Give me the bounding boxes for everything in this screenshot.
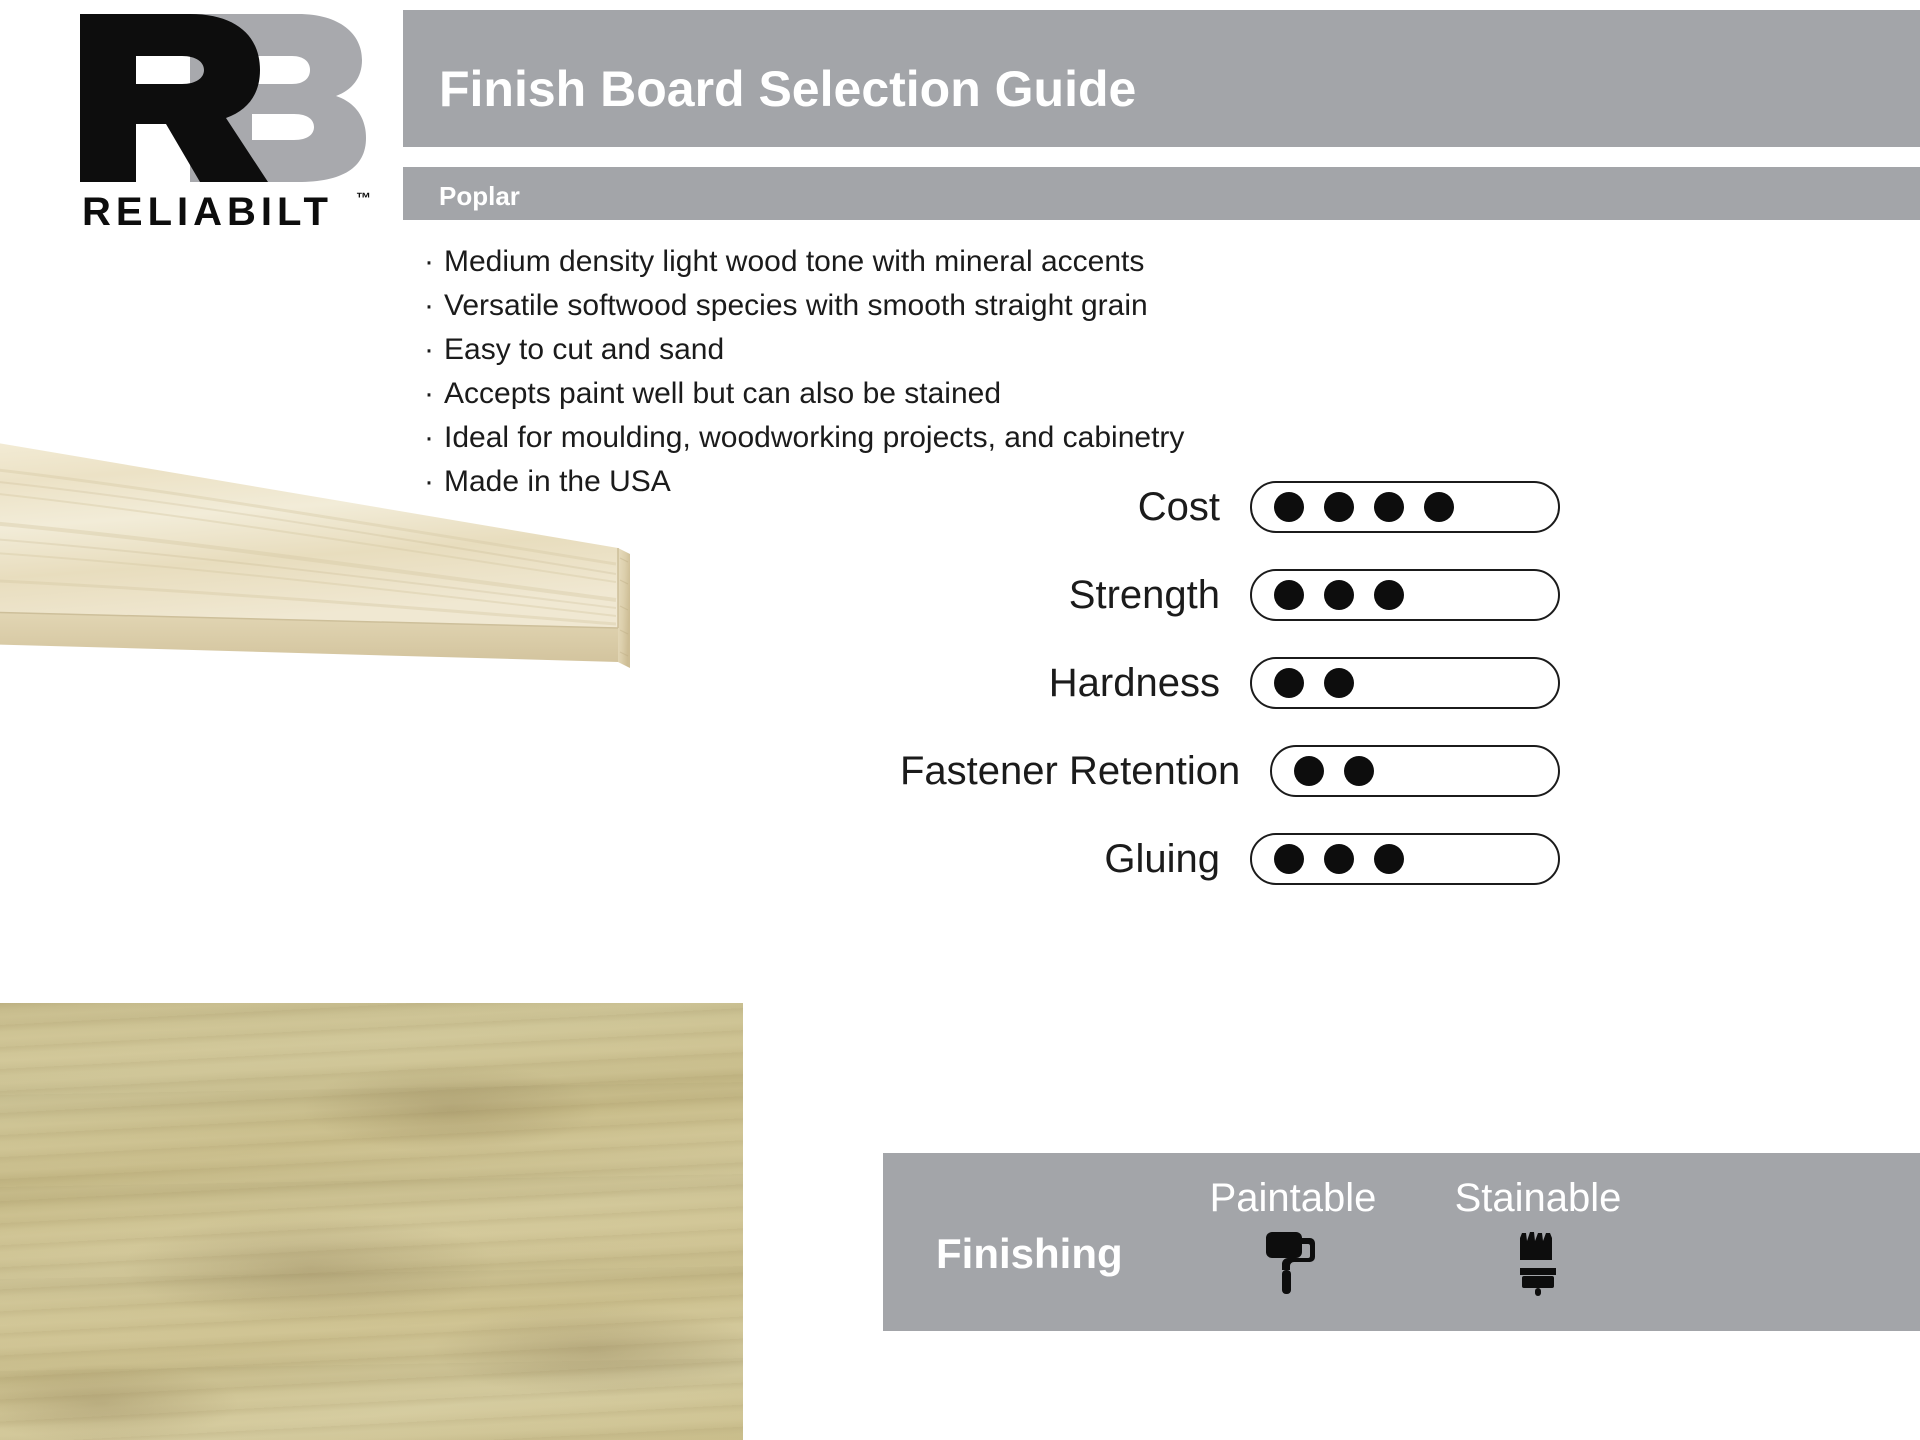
rating-label: Hardness: [1049, 661, 1220, 706]
bullet-icon: ·: [424, 240, 444, 284]
rating-row-hardness: Hardness: [900, 646, 1560, 720]
bullet-icon: ·: [424, 372, 444, 416]
rating-dot: [1374, 492, 1404, 522]
feature-text: Medium density light wood tone with mine…: [444, 240, 1144, 284]
bullet-icon: ·: [424, 328, 444, 372]
feature-text: Easy to cut and sand: [444, 328, 724, 372]
rating-dot: [1324, 844, 1354, 874]
finishing-option-paintable: Paintable: [1168, 1176, 1418, 1299]
rating-dot: [1274, 580, 1304, 610]
brand-logo: RELIABILT ™: [40, 8, 370, 238]
page-title: Finish Board Selection Guide: [439, 60, 1136, 118]
trademark-symbol: ™: [356, 190, 371, 207]
rating-dot: [1294, 756, 1324, 786]
rb-monogram-icon: [40, 8, 370, 188]
list-item: · Accepts paint well but can also be sta…: [424, 372, 1384, 416]
grain-figure: [300, 1063, 600, 1153]
paint-roller-glyph: [1262, 1230, 1324, 1296]
rating-meter: [1250, 657, 1560, 709]
species-name: Poplar: [439, 181, 520, 212]
rating-dot: [1274, 492, 1304, 522]
rating-row-gluing: Gluing: [900, 822, 1560, 896]
rating-meter: [1250, 833, 1560, 885]
wood-grain-swatch: [0, 1003, 743, 1440]
rating-dot: [1324, 492, 1354, 522]
rating-dot: [1374, 580, 1404, 610]
bullet-icon: ·: [424, 284, 444, 328]
brand-wordmark: RELIABILT: [82, 190, 333, 235]
paint-roller-icon: [1168, 1227, 1418, 1299]
list-item: · Easy to cut and sand: [424, 328, 1384, 372]
logo-letter-r: [80, 14, 268, 182]
feature-text: Accepts paint well but can also be stain…: [444, 372, 1001, 416]
rating-label: Strength: [1069, 573, 1220, 618]
paint-brush-icon: [1413, 1227, 1663, 1299]
finishing-heading: Finishing: [936, 1230, 1123, 1278]
property-ratings: Cost Strength Hardness Fastener Retentio…: [900, 470, 1560, 910]
list-item: · Medium density light wood tone with mi…: [424, 240, 1384, 284]
species-bar: Poplar: [403, 167, 1920, 220]
rating-row-strength: Strength: [900, 558, 1560, 632]
grain-figure: [120, 1213, 500, 1323]
rating-meter: [1250, 569, 1560, 621]
rating-dot: [1424, 492, 1454, 522]
rating-meter: [1270, 745, 1560, 797]
rating-label: Cost: [1138, 485, 1220, 530]
feature-text: Versatile softwood species with smooth s…: [444, 284, 1148, 328]
board-product-photo: [0, 430, 630, 790]
paint-brush-glyph: [1512, 1229, 1564, 1297]
rating-dot: [1324, 668, 1354, 698]
finishing-bar: Finishing Paintable Stainable: [883, 1153, 1920, 1331]
finishing-option-label: Paintable: [1168, 1176, 1418, 1221]
rating-label: Fastener Retention: [900, 749, 1240, 794]
rating-meter: [1250, 481, 1560, 533]
rating-dot: [1324, 580, 1354, 610]
rb-monogram-svg: [40, 8, 370, 188]
rating-dot: [1374, 844, 1404, 874]
title-bar: Finish Board Selection Guide: [403, 10, 1920, 147]
rating-dot: [1274, 844, 1304, 874]
finishing-option-label: Stainable: [1413, 1176, 1663, 1221]
finishing-option-stainable: Stainable: [1413, 1176, 1663, 1299]
grain-figure: [430, 1303, 743, 1398]
rating-dot: [1274, 668, 1304, 698]
board-photo-svg: [0, 430, 630, 790]
grain-figure: [0, 1363, 240, 1440]
rating-row-fastener-retention: Fastener Retention: [900, 734, 1560, 808]
rating-row-cost: Cost: [900, 470, 1560, 544]
rating-label: Gluing: [1104, 837, 1220, 882]
rating-dot: [1344, 756, 1374, 786]
list-item: · Versatile softwood species with smooth…: [424, 284, 1384, 328]
